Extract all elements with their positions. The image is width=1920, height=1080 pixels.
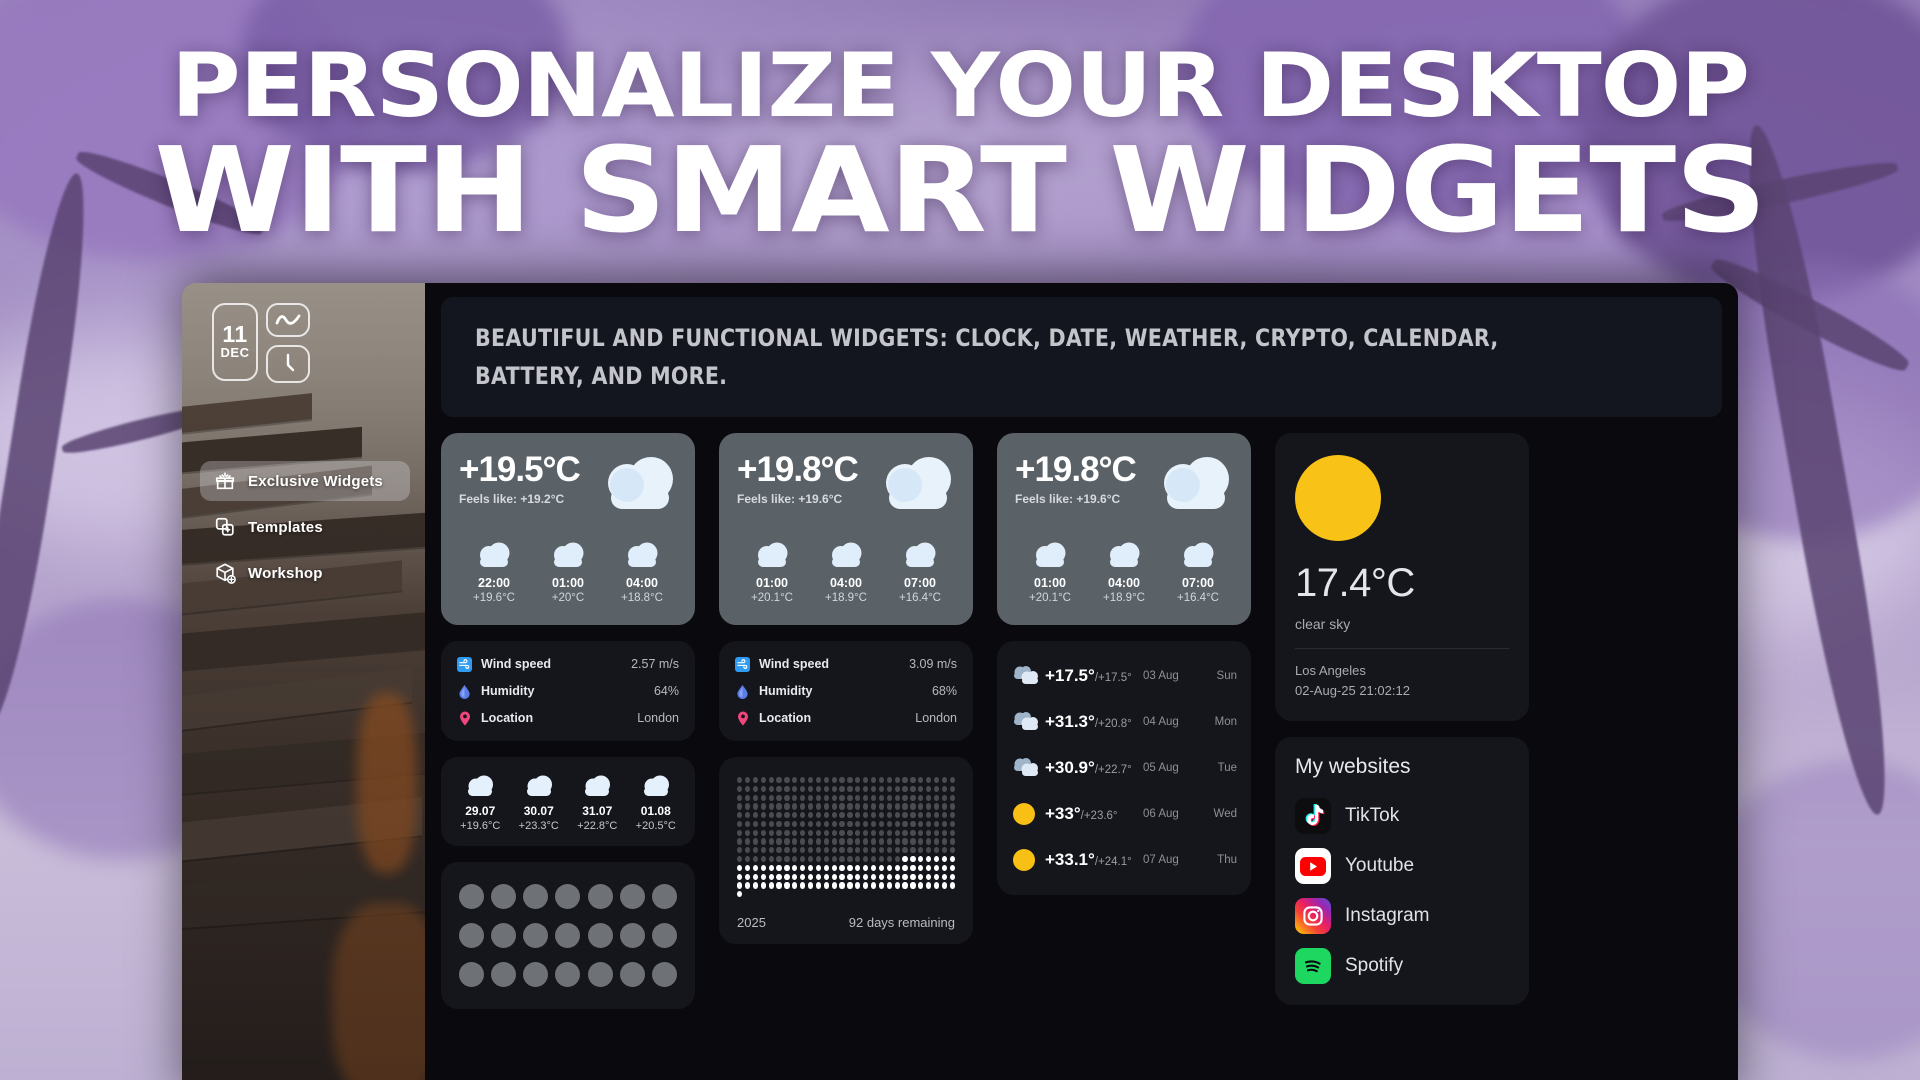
website-link-spotify[interactable]: Spotify bbox=[1295, 941, 1509, 991]
year-dot bbox=[926, 882, 931, 888]
sun-icon bbox=[1295, 455, 1381, 541]
sidebar-item-workshop[interactable]: Workshop bbox=[200, 553, 410, 593]
year-dot bbox=[816, 882, 821, 888]
year-dot bbox=[808, 812, 813, 818]
forecast-low: /+24.1° bbox=[1095, 856, 1132, 868]
year-dot bbox=[887, 865, 892, 871]
year-dot bbox=[950, 838, 955, 844]
year-dot bbox=[871, 803, 876, 809]
year-dot-row bbox=[737, 865, 955, 871]
forecast-date: 03 Aug bbox=[1143, 670, 1201, 682]
year-dot bbox=[855, 874, 860, 880]
year-dot bbox=[950, 856, 955, 862]
year-dot bbox=[769, 795, 774, 801]
forecast-temps: +30.9°/+22.7° bbox=[1045, 758, 1143, 778]
daily-temp: +23.3°C bbox=[511, 820, 567, 832]
year-dot bbox=[926, 821, 931, 827]
year-dot bbox=[808, 838, 813, 844]
year-dot bbox=[824, 803, 829, 809]
daily-item: 29.07 +19.6°C bbox=[452, 772, 508, 832]
year-dot bbox=[895, 786, 900, 792]
year-dot bbox=[926, 891, 931, 897]
year-dot bbox=[902, 786, 907, 792]
year-dot bbox=[792, 847, 797, 853]
year-dot bbox=[769, 777, 774, 783]
year-dot bbox=[895, 865, 900, 871]
month-dot bbox=[588, 962, 613, 987]
year-dot bbox=[871, 838, 876, 844]
year-dot bbox=[839, 777, 844, 783]
year-dot bbox=[950, 786, 955, 792]
year-dot bbox=[824, 882, 829, 888]
date-widget-month: DEC bbox=[221, 345, 250, 361]
activity-line-icon[interactable] bbox=[266, 303, 310, 337]
year-dot bbox=[879, 865, 884, 871]
promo-banner-text: BEAUTIFUL AND FUNCTIONAL WIDGETS: CLOCK,… bbox=[475, 319, 1518, 395]
detail-label: Humidity bbox=[481, 684, 645, 698]
year-dot bbox=[784, 882, 789, 888]
year-dot bbox=[784, 795, 789, 801]
daily-forecast-card: 29.07 +19.6°C 30.07 +23.3°C 31.07 +22.8°… bbox=[441, 757, 695, 846]
year-dot-row bbox=[737, 830, 955, 836]
month-dot-row bbox=[459, 884, 677, 909]
year-dot bbox=[824, 856, 829, 862]
year-dot bbox=[808, 882, 813, 888]
year-dot bbox=[950, 874, 955, 880]
hourly-item: 01:00 +20°C bbox=[537, 536, 599, 604]
year-dot bbox=[950, 891, 955, 897]
year-dot bbox=[918, 795, 923, 801]
year-dot bbox=[792, 777, 797, 783]
copy-plus-icon bbox=[214, 516, 236, 538]
year-dot bbox=[745, 856, 750, 862]
year-dot bbox=[910, 882, 915, 888]
year-dot bbox=[934, 874, 939, 880]
year-dot-row bbox=[737, 882, 955, 888]
forecast-day: Sun bbox=[1201, 670, 1237, 682]
year-dot bbox=[792, 812, 797, 818]
year-dot bbox=[824, 874, 829, 880]
year-dot bbox=[808, 891, 813, 897]
year-dot bbox=[887, 847, 892, 853]
year-dot bbox=[879, 803, 884, 809]
detail-value: London bbox=[637, 711, 679, 725]
year-dot bbox=[926, 803, 931, 809]
year-dot bbox=[902, 812, 907, 818]
year-dot bbox=[800, 874, 805, 880]
year-dot bbox=[737, 882, 742, 888]
year-dot bbox=[863, 777, 868, 783]
month-dot bbox=[555, 962, 580, 987]
year-dot bbox=[847, 786, 852, 792]
year-dot bbox=[942, 847, 947, 853]
year-dot bbox=[816, 874, 821, 880]
year-dot bbox=[887, 874, 892, 880]
year-dot bbox=[871, 847, 876, 853]
month-dot bbox=[491, 884, 516, 909]
detail-value: 3.09 m/s bbox=[909, 657, 957, 671]
clouds-icon bbox=[1011, 711, 1045, 733]
year-dot bbox=[832, 865, 837, 871]
year-dot bbox=[769, 891, 774, 897]
detail-value: 68% bbox=[932, 684, 957, 698]
website-link-youtube[interactable]: Youtube bbox=[1295, 841, 1509, 891]
year-dot bbox=[816, 856, 821, 862]
year-dot bbox=[910, 795, 915, 801]
website-label: Instagram bbox=[1345, 905, 1429, 927]
month-dots-widget[interactable] bbox=[441, 862, 695, 1009]
hourly-item: 04:00 +18.9°C bbox=[1093, 536, 1155, 604]
divider bbox=[1295, 648, 1509, 649]
year-dot bbox=[934, 786, 939, 792]
month-dot bbox=[652, 884, 677, 909]
year-dot bbox=[910, 838, 915, 844]
cloud-icon bbox=[889, 536, 951, 570]
year-dot bbox=[792, 874, 797, 880]
year-dot bbox=[761, 830, 766, 836]
year-dot bbox=[855, 856, 860, 862]
year-dot bbox=[934, 830, 939, 836]
hourly-item: 07:00 +16.4°C bbox=[889, 536, 951, 604]
hourly-temp: +20°C bbox=[537, 592, 599, 604]
forecast-temps: +33°/+23.6° bbox=[1045, 804, 1143, 824]
year-dot bbox=[792, 830, 797, 836]
website-label: Youtube bbox=[1345, 855, 1414, 877]
year-dot bbox=[942, 882, 947, 888]
year-dot bbox=[784, 803, 789, 809]
year-dot bbox=[895, 803, 900, 809]
year-dot bbox=[918, 856, 923, 862]
year-dot bbox=[926, 786, 931, 792]
year-dot bbox=[832, 803, 837, 809]
cloud-icon bbox=[1019, 536, 1081, 570]
year-dot bbox=[753, 891, 758, 897]
year-dot bbox=[863, 838, 868, 844]
year-dot bbox=[942, 795, 947, 801]
year-dot-row bbox=[737, 812, 955, 818]
my-websites-title: My websites bbox=[1295, 755, 1509, 779]
year-dot bbox=[871, 777, 876, 783]
year-dot bbox=[808, 803, 813, 809]
year-dot bbox=[902, 847, 907, 853]
year-dot bbox=[950, 803, 955, 809]
year-dot bbox=[926, 865, 931, 871]
gift-box-sparkle-icon bbox=[214, 470, 236, 492]
forecast-low: /+17.5° bbox=[1095, 672, 1132, 684]
year-dot bbox=[895, 874, 900, 880]
year-dot bbox=[879, 795, 884, 801]
year-dot-row bbox=[737, 838, 955, 844]
content-area: BEAUTIFUL AND FUNCTIONAL WIDGETS: CLOCK,… bbox=[425, 283, 1738, 1080]
year-dot bbox=[792, 821, 797, 827]
year-dot bbox=[808, 777, 813, 783]
year-dot bbox=[934, 856, 939, 862]
year-dot bbox=[761, 865, 766, 871]
year-dot bbox=[769, 865, 774, 871]
year-dot bbox=[847, 812, 852, 818]
forecast-day: Mon bbox=[1201, 716, 1237, 728]
year-dot bbox=[753, 786, 758, 792]
year-dot bbox=[942, 865, 947, 871]
year-dot bbox=[784, 847, 789, 853]
year-dot bbox=[902, 865, 907, 871]
year-dot bbox=[855, 838, 860, 844]
year-dot bbox=[753, 803, 758, 809]
year-dot bbox=[863, 786, 868, 792]
year-dot bbox=[776, 803, 781, 809]
year-dot bbox=[863, 803, 868, 809]
current-weather-widget[interactable]: 17.4°C clear sky Los Angeles 02-Aug-25 2… bbox=[1275, 433, 1529, 721]
year-dot bbox=[926, 812, 931, 818]
year-dot bbox=[745, 786, 750, 792]
cloud-icon bbox=[628, 772, 684, 798]
year-dot bbox=[784, 865, 789, 871]
year-dot bbox=[926, 874, 931, 880]
year-dot bbox=[784, 786, 789, 792]
hourly-forecast: 22:00 +19.6°C 01:00 +20°C 04:00 +18.8°C bbox=[459, 536, 677, 604]
year-dot bbox=[879, 847, 884, 853]
year-dot bbox=[902, 830, 907, 836]
month-dot bbox=[620, 962, 645, 987]
forecast-row: +31.3°/+20.8°04 AugMon bbox=[1011, 699, 1237, 745]
year-dot bbox=[776, 838, 781, 844]
hourly-time: 22:00 bbox=[463, 576, 525, 590]
year-dot bbox=[887, 856, 892, 862]
hourly-temp: +20.1°C bbox=[741, 592, 803, 604]
year-dot bbox=[855, 882, 860, 888]
sidebar-item-label: Templates bbox=[248, 519, 323, 536]
website-label: TikTok bbox=[1345, 805, 1399, 827]
year-dot bbox=[839, 812, 844, 818]
month-dot bbox=[652, 962, 677, 987]
widget-grid: +19.5°C Feels like: +19.2°C 22:00 +19.6°… bbox=[441, 433, 1722, 1009]
year-dot bbox=[753, 830, 758, 836]
sidebar-item-exclusive-widgets[interactable]: Exclusive Widgets bbox=[200, 461, 410, 501]
year-dot bbox=[769, 786, 774, 792]
year-dot bbox=[761, 856, 766, 862]
month-dot-row bbox=[459, 923, 677, 948]
year-dot bbox=[934, 795, 939, 801]
year-dot bbox=[887, 777, 892, 783]
tiktok-icon bbox=[1295, 798, 1331, 834]
year-dot-row bbox=[737, 847, 955, 853]
cloud-icon bbox=[1093, 536, 1155, 570]
year-dot bbox=[934, 803, 939, 809]
year-dot bbox=[792, 795, 797, 801]
forecast-temps: +31.3°/+20.8° bbox=[1045, 712, 1143, 732]
month-dot bbox=[588, 923, 613, 948]
detail-label: Location bbox=[481, 711, 628, 725]
year-dot bbox=[753, 838, 758, 844]
month-dot bbox=[652, 923, 677, 948]
year-dot bbox=[839, 882, 844, 888]
hourly-item: 07:00 +16.4°C bbox=[1167, 536, 1229, 604]
month-dot bbox=[523, 884, 548, 909]
year-dot bbox=[745, 891, 750, 897]
year-dot bbox=[769, 821, 774, 827]
year-dot bbox=[784, 821, 789, 827]
year-dot bbox=[950, 821, 955, 827]
year-dot bbox=[879, 812, 884, 818]
widget-column-3: +19.8°C Feels like: +19.6°C 01:00 +20.1°… bbox=[997, 433, 1251, 1009]
year-dot bbox=[855, 795, 860, 801]
year-dot bbox=[769, 838, 774, 844]
sidebar-nav: Exclusive Widgets Templates bbox=[200, 461, 410, 599]
year-dot bbox=[784, 856, 789, 862]
year-dot bbox=[816, 821, 821, 827]
year-dot bbox=[737, 821, 742, 827]
year-dot bbox=[800, 891, 805, 897]
year-dot bbox=[934, 812, 939, 818]
sidebar-mini-widgets: 11 DEC bbox=[212, 303, 310, 383]
year-dot bbox=[863, 882, 868, 888]
year-dot bbox=[800, 882, 805, 888]
year-label: 2025 bbox=[737, 915, 766, 930]
date-widget[interactable]: 11 DEC bbox=[212, 303, 258, 381]
year-dot bbox=[926, 777, 931, 783]
year-dot bbox=[871, 830, 876, 836]
weather-card[interactable]: +19.8°C Feels like: +19.6°C 01:00 +20.1°… bbox=[997, 433, 1251, 625]
month-dot bbox=[459, 923, 484, 948]
hourly-time: 04:00 bbox=[611, 576, 673, 590]
weather-card[interactable]: +19.5°C Feels like: +19.2°C 22:00 +19.6°… bbox=[441, 433, 695, 625]
year-dot bbox=[745, 795, 750, 801]
detail-row-humidity: Humidity 64% bbox=[457, 681, 679, 701]
year-dot bbox=[761, 777, 766, 783]
cloud-icon bbox=[569, 772, 625, 798]
forecast-temps: +33.1°/+24.1° bbox=[1045, 850, 1143, 870]
year-dot bbox=[879, 821, 884, 827]
year-dot bbox=[855, 830, 860, 836]
year-dot bbox=[879, 777, 884, 783]
detail-row-location: Location London bbox=[457, 708, 679, 728]
detail-row-location: Location London bbox=[735, 708, 957, 728]
year-dot bbox=[871, 795, 876, 801]
year-dot bbox=[816, 865, 821, 871]
year-dot bbox=[871, 821, 876, 827]
year-dot-row bbox=[737, 795, 955, 801]
cloud-icon bbox=[452, 772, 508, 798]
year-dot bbox=[824, 865, 829, 871]
forecast-row: +33.1°/+24.1°07 AugThu bbox=[1011, 837, 1237, 883]
year-dot bbox=[776, 874, 781, 880]
year-dot bbox=[926, 847, 931, 853]
year-dot bbox=[792, 838, 797, 844]
year-dot bbox=[800, 865, 805, 871]
forecast-low: /+23.6° bbox=[1081, 810, 1118, 822]
year-dot bbox=[808, 865, 813, 871]
year-dot bbox=[910, 874, 915, 880]
forecast-date: 06 Aug bbox=[1143, 808, 1201, 820]
wind-icon bbox=[457, 657, 472, 672]
year-dot bbox=[824, 812, 829, 818]
year-dot bbox=[792, 786, 797, 792]
forecast-day: Wed bbox=[1201, 808, 1237, 820]
forecast-date: 04 Aug bbox=[1143, 716, 1201, 728]
year-dot bbox=[887, 803, 892, 809]
year-dot bbox=[863, 795, 868, 801]
weather-card[interactable]: +19.8°C Feels like: +19.6°C 01:00 +20.1°… bbox=[719, 433, 973, 625]
year-dot bbox=[871, 874, 876, 880]
month-dot bbox=[620, 884, 645, 909]
month-dot bbox=[459, 962, 484, 987]
sidebar: 11 DEC bbox=[182, 283, 425, 1080]
year-dot bbox=[926, 830, 931, 836]
year-dot bbox=[934, 865, 939, 871]
month-dot bbox=[491, 962, 516, 987]
year-dot bbox=[887, 786, 892, 792]
year-dot bbox=[934, 821, 939, 827]
year-dot-row bbox=[737, 874, 955, 880]
wind-icon bbox=[735, 657, 750, 672]
year-dot bbox=[839, 847, 844, 853]
cloud-icon bbox=[1167, 536, 1229, 570]
year-dot bbox=[839, 821, 844, 827]
year-dot bbox=[808, 821, 813, 827]
year-dot bbox=[737, 786, 742, 792]
year-dot bbox=[895, 847, 900, 853]
year-dot bbox=[926, 795, 931, 801]
year-dot bbox=[776, 795, 781, 801]
year-dot bbox=[816, 847, 821, 853]
year-progress-widget[interactable]: 2025 92 days remaining bbox=[719, 757, 973, 944]
year-dot bbox=[816, 803, 821, 809]
year-dot bbox=[847, 777, 852, 783]
year-dot bbox=[753, 882, 758, 888]
year-dot bbox=[863, 812, 868, 818]
year-dot bbox=[761, 803, 766, 809]
year-dot bbox=[839, 795, 844, 801]
year-dot bbox=[847, 821, 852, 827]
year-dot bbox=[761, 874, 766, 880]
hourly-time: 07:00 bbox=[1167, 576, 1229, 590]
year-dot bbox=[942, 891, 947, 897]
clock-icon[interactable] bbox=[266, 345, 310, 383]
website-link-instagram[interactable]: Instagram bbox=[1295, 891, 1509, 941]
year-dot bbox=[737, 795, 742, 801]
website-link-tiktok[interactable]: TikTok bbox=[1295, 791, 1509, 841]
sidebar-item-templates[interactable]: Templates bbox=[200, 507, 410, 547]
year-dot bbox=[800, 786, 805, 792]
hourly-item: 04:00 +18.9°C bbox=[815, 536, 877, 604]
hourly-forecast: 01:00 +20.1°C 04:00 +18.9°C 07:00 +16.4°… bbox=[1015, 536, 1233, 604]
year-dot bbox=[824, 795, 829, 801]
year-dot bbox=[895, 812, 900, 818]
year-dot bbox=[776, 812, 781, 818]
detail-label: Wind speed bbox=[759, 657, 900, 671]
year-dot bbox=[910, 821, 915, 827]
cloud-icon bbox=[511, 772, 567, 798]
forecast-low: /+20.8° bbox=[1095, 718, 1132, 730]
year-dot bbox=[847, 856, 852, 862]
weather-details-card: Wind speed 3.09 m/s Humidity 68% Locatio… bbox=[719, 641, 973, 741]
year-dot-row bbox=[737, 803, 955, 809]
year-dot bbox=[855, 821, 860, 827]
year-dot bbox=[839, 803, 844, 809]
year-dot bbox=[950, 847, 955, 853]
year-dot bbox=[942, 874, 947, 880]
year-dot bbox=[769, 856, 774, 862]
year-dot bbox=[847, 882, 852, 888]
current-location: Los Angeles bbox=[1295, 661, 1509, 681]
year-dot bbox=[784, 891, 789, 897]
year-dot bbox=[887, 830, 892, 836]
hourly-temp: +18.9°C bbox=[1093, 592, 1155, 604]
year-dot bbox=[776, 830, 781, 836]
forecast-list-card: +17.5°/+17.5°03 AugSun+31.3°/+20.8°04 Au… bbox=[997, 641, 1251, 895]
year-dot bbox=[887, 882, 892, 888]
year-dot bbox=[776, 821, 781, 827]
